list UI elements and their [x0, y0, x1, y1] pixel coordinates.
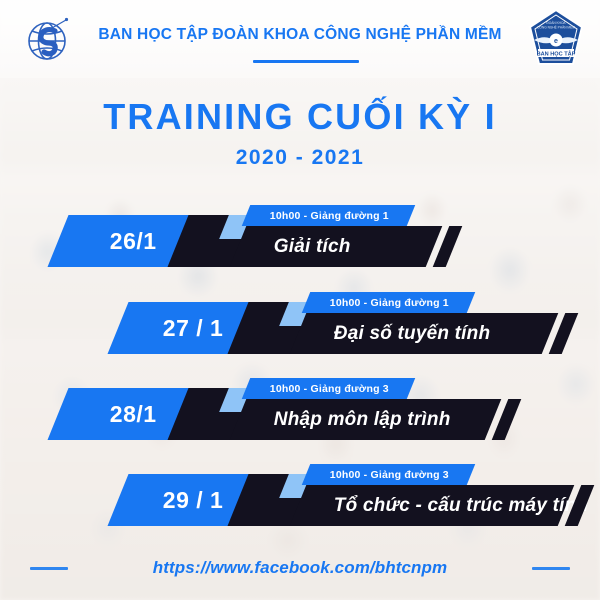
svg-text:BAN HỌC TẬP: BAN HỌC TẬP — [537, 50, 576, 57]
subject-text-wrap: Đại số tuyến tính — [290, 313, 499, 354]
svg-text:ĐOÀN KHOA: ĐOÀN KHOA — [546, 21, 566, 25]
svg-text:CÔNG NGHỆ PHẦN MỀM: CÔNG NGHỆ PHẦN MỀM — [537, 25, 575, 30]
footer-rule-right — [532, 567, 570, 570]
time-location-label: 10h00 - Giảng đường 1 — [270, 210, 389, 222]
subject-label: Giải tích — [274, 236, 351, 258]
time-location-label: 10h00 - Giảng đường 3 — [330, 469, 449, 481]
schedule-row[interactable]: 27 / 1 10h00 - Giảng đường 1 Đại số tuyế… — [118, 292, 578, 354]
subject-text-wrap: Tổ chức - cấu trúc máy tính — [290, 485, 597, 526]
org-title: BAN HỌC TẬP ĐOÀN KHOA CÔNG NGHỆ PHẦN MỀM — [82, 26, 518, 44]
svg-text:e: e — [554, 38, 558, 45]
poster-canvas: BAN HỌC TẬP ĐOÀN KHOA CÔNG NGHỆ PHẦN MỀM… — [0, 0, 600, 600]
time-location-badge: 10h00 - Giảng đường 1 — [242, 205, 416, 226]
time-location-badge: 10h00 - Giảng đường 1 — [302, 292, 476, 313]
schedule-row[interactable]: 29 / 1 10h00 - Giảng đường 3 Tổ chức - c… — [118, 464, 578, 526]
header-underline — [253, 60, 359, 63]
schedule-row[interactable]: 26/1 10h00 - Giảng đường 1 Giải tích — [58, 205, 518, 267]
academic-year: 2020 - 2021 — [0, 146, 600, 170]
ban-hoc-tap-badge-logo: ĐOÀN KHOA CÔNG NGHỆ PHẦN MỀM e BAN HỌC T… — [528, 8, 584, 70]
time-location-badge: 10h00 - Giảng đường 3 — [242, 378, 416, 399]
time-location-label: 10h00 - Giảng đường 3 — [270, 383, 389, 395]
subject-text-wrap: Giải tích — [230, 226, 359, 267]
subject-label: Đại số tuyến tính — [334, 323, 490, 345]
subject-text-wrap: Nhập môn lập trình — [230, 399, 459, 440]
time-location-label: 10h00 - Giảng đường 1 — [330, 297, 449, 309]
subject-label: Nhập môn lập trình — [274, 409, 451, 431]
subject-label: Tổ chức - cấu trúc máy tính — [334, 495, 588, 517]
event-title: TRAINING CUỐI KỲ I — [0, 96, 600, 138]
facebook-url[interactable]: https://www.facebook.com/bhtcnpm — [0, 558, 600, 578]
time-location-badge: 10h00 - Giảng đường 3 — [302, 464, 476, 485]
globe-s-logo — [22, 14, 74, 66]
schedule-row[interactable]: 28/1 10h00 - Giảng đường 3 Nhập môn lập … — [58, 378, 518, 440]
header: BAN HỌC TẬP ĐOÀN KHOA CÔNG NGHỆ PHẦN MỀM… — [0, 0, 600, 78]
